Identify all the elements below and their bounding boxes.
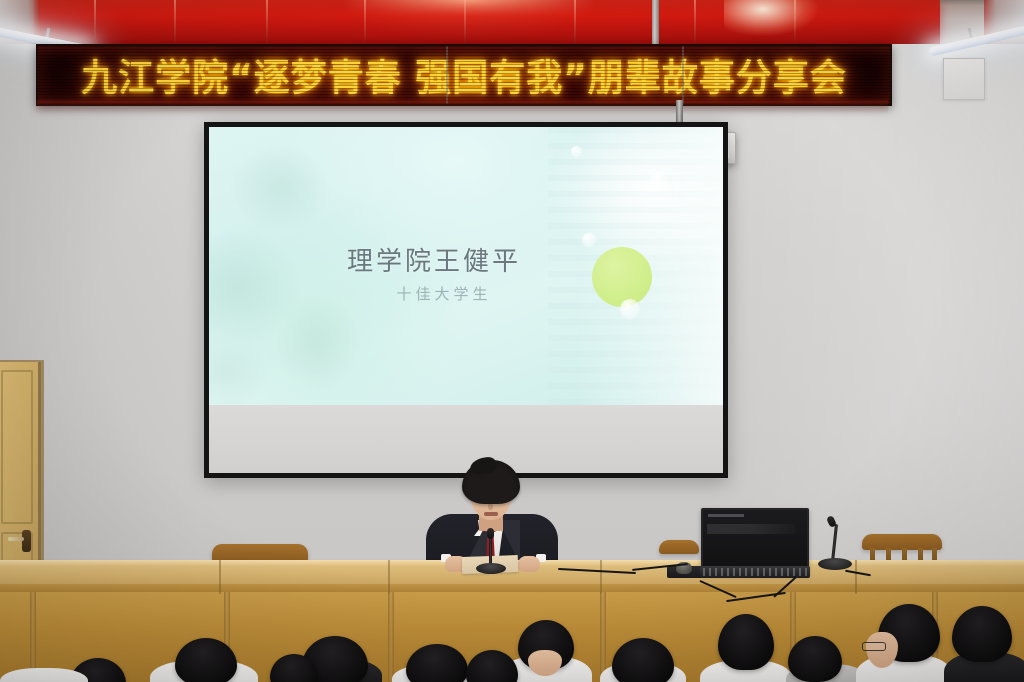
desktop-monitor[interactable] [701, 508, 809, 574]
slide-subtitle: 十佳大学生 [209, 283, 701, 304]
speaker-hand-right [518, 556, 540, 572]
chair-center-right[interactable] [659, 540, 699, 554]
door-latch[interactable] [8, 537, 24, 541]
projection-screen-frame: 理学院王健平 十佳大学生 [204, 122, 728, 478]
audience-glasses [862, 642, 886, 651]
speaker-mouth [484, 512, 498, 516]
audience-head [718, 614, 774, 670]
slide-title: 理学院王健平 [209, 241, 691, 278]
monitor-logo [708, 514, 744, 517]
audience-head [952, 606, 1012, 662]
panel-divider [388, 592, 394, 682]
microphone-base-right [818, 558, 852, 570]
keyboard-keys [703, 568, 807, 576]
wall-mounted-box [943, 58, 985, 100]
led-banner-text: 九江学院“逐梦青春 强国有我”朋辈故事分享会 [81, 48, 847, 102]
support-pole [652, 0, 659, 46]
door-upper-panel [1, 370, 33, 524]
speaker-nose [488, 503, 493, 510]
screen-lower-blank [209, 405, 723, 473]
audience-member [0, 668, 88, 682]
red-ceiling-canopy [34, 0, 940, 46]
wall-shading-right [700, 44, 1024, 574]
monitor-screen-reflection [707, 524, 795, 534]
audience-head [788, 636, 842, 682]
led-banner: 九江学院“逐梦青春 强国有我”朋辈故事分享会 [36, 44, 892, 106]
microphone-base [476, 563, 506, 574]
microphone-head [487, 528, 494, 539]
lecture-hall-photo: 九江学院“逐梦青春 强国有我”朋辈故事分享会 理学院王健平 十佳大学生 [0, 0, 1024, 682]
chair-right[interactable] [862, 534, 942, 550]
door-handle[interactable] [22, 530, 31, 552]
presentation-slide: 理学院王健平 十佳大学生 [209, 127, 723, 405]
room-door[interactable] [0, 362, 41, 574]
projection-screen-surface: 理学院王健平 十佳大学生 [209, 127, 723, 473]
